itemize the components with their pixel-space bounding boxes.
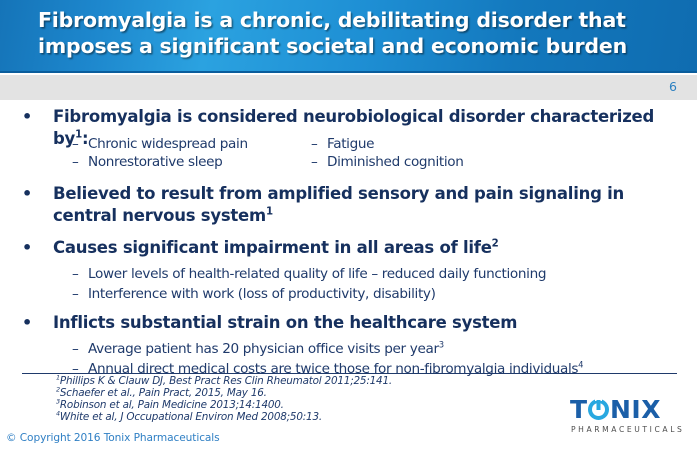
sub-bullet-marker: – xyxy=(72,153,88,172)
references-list: 1Phillips K & Clauw DJ, Best Pract Res C… xyxy=(56,376,392,424)
sub-bullet-1-1: –Chronic widespread pain xyxy=(72,135,248,154)
footnote-divider xyxy=(22,373,677,374)
logo-letters-nix: NIX xyxy=(610,396,661,423)
bullet-marker: • xyxy=(22,237,52,259)
sub-bullet-marker: – xyxy=(72,135,88,154)
sub-bullet-label: Chronic widespread pain xyxy=(88,136,248,152)
page-number: 6 xyxy=(669,79,677,94)
slide: Fibromyalgia is a chronic, debilitating … xyxy=(0,0,697,451)
sub-bullet-marker: – xyxy=(311,135,327,154)
sub-bullet-label: Nonrestorative sleep xyxy=(88,154,222,170)
sub-bullet-4-1: –Average patient has 20 physician office… xyxy=(72,340,444,359)
title-line-1: Fibromyalgia is a chronic, debilitating … xyxy=(38,7,678,33)
bullet-3-superscript: 2 xyxy=(492,239,499,250)
sub-bullet-3-2: –Interference with work (loss of product… xyxy=(72,285,436,304)
bullet-4: • Inflicts substantial strain on the hea… xyxy=(22,312,682,334)
sub-bullet-marker: – xyxy=(72,265,88,284)
sub-bullet-superscript: 4 xyxy=(578,359,583,369)
sub-bullet-1-4: –Diminished cognition xyxy=(311,153,464,172)
bullet-2-text: Believed to result from amplified sensor… xyxy=(53,183,672,227)
reference-text: White et al, J Occupational Environ Med … xyxy=(60,411,322,423)
sub-bullet-marker: – xyxy=(311,153,327,172)
sub-bullet-label: Diminished cognition xyxy=(327,154,464,170)
bullet-2: • Believed to result from amplified sens… xyxy=(22,183,672,227)
sub-bullet-superscript: 3 xyxy=(439,339,444,349)
reference-text: Schaefer et al., Pain Pract, 2015, May 1… xyxy=(60,387,267,399)
sub-bullet-3-1: –Lower levels of health-related quality … xyxy=(72,265,546,284)
bullet-marker: • xyxy=(22,312,52,334)
sub-bullet-1-2: –Nonrestorative sleep xyxy=(72,153,222,172)
sub-bullet-label: Interference with work (loss of producti… xyxy=(88,286,436,302)
subtitle-band xyxy=(0,75,697,100)
sub-bullet-1-3: –Fatigue xyxy=(311,135,374,154)
bullet-3-main: Causes significant impairment in all are… xyxy=(53,238,492,257)
bullet-2-main: Believed to result from amplified sensor… xyxy=(53,184,624,225)
logo-tagline: PHARMACEUTICALS xyxy=(571,425,684,434)
reference-item: 4White et al, J Occupational Environ Med… xyxy=(56,412,392,424)
copyright-text: © Copyright 2016 Tonix Pharmaceuticals xyxy=(6,432,220,444)
sub-bullet-label: Average patient has 20 physician office … xyxy=(88,341,439,357)
bullet-marker: • xyxy=(22,183,52,205)
bullet-4-text: Inflicts substantial strain on the healt… xyxy=(53,312,682,334)
sub-bullet-marker: – xyxy=(72,340,88,359)
tonix-logo: T NIX PHARMACEUTICALS xyxy=(570,396,690,444)
bullet-marker: • xyxy=(22,106,52,128)
bullet-3: • Causes significant impairment in all a… xyxy=(22,237,682,259)
sub-bullet-label: Lower levels of health-related quality o… xyxy=(88,266,546,282)
reference-text: Phillips K & Clauw DJ, Best Pract Res Cl… xyxy=(60,375,392,387)
title-line-2: imposes a significant societal and econo… xyxy=(38,33,678,59)
bullet-2-superscript: 1 xyxy=(266,207,273,218)
sub-bullet-label: Fatigue xyxy=(327,136,374,152)
reference-text: Robinson et al, Pain Medicine 2013;14:14… xyxy=(60,399,284,411)
page-title: Fibromyalgia is a chronic, debilitating … xyxy=(38,7,678,59)
sub-bullet-marker: – xyxy=(72,285,88,304)
bullet-3-text: Causes significant impairment in all are… xyxy=(53,237,682,259)
slide-body: • Fibromyalgia is considered neurobiolog… xyxy=(0,100,697,375)
power-symbol-icon xyxy=(588,399,609,420)
logo-letter-t: T xyxy=(570,396,588,423)
